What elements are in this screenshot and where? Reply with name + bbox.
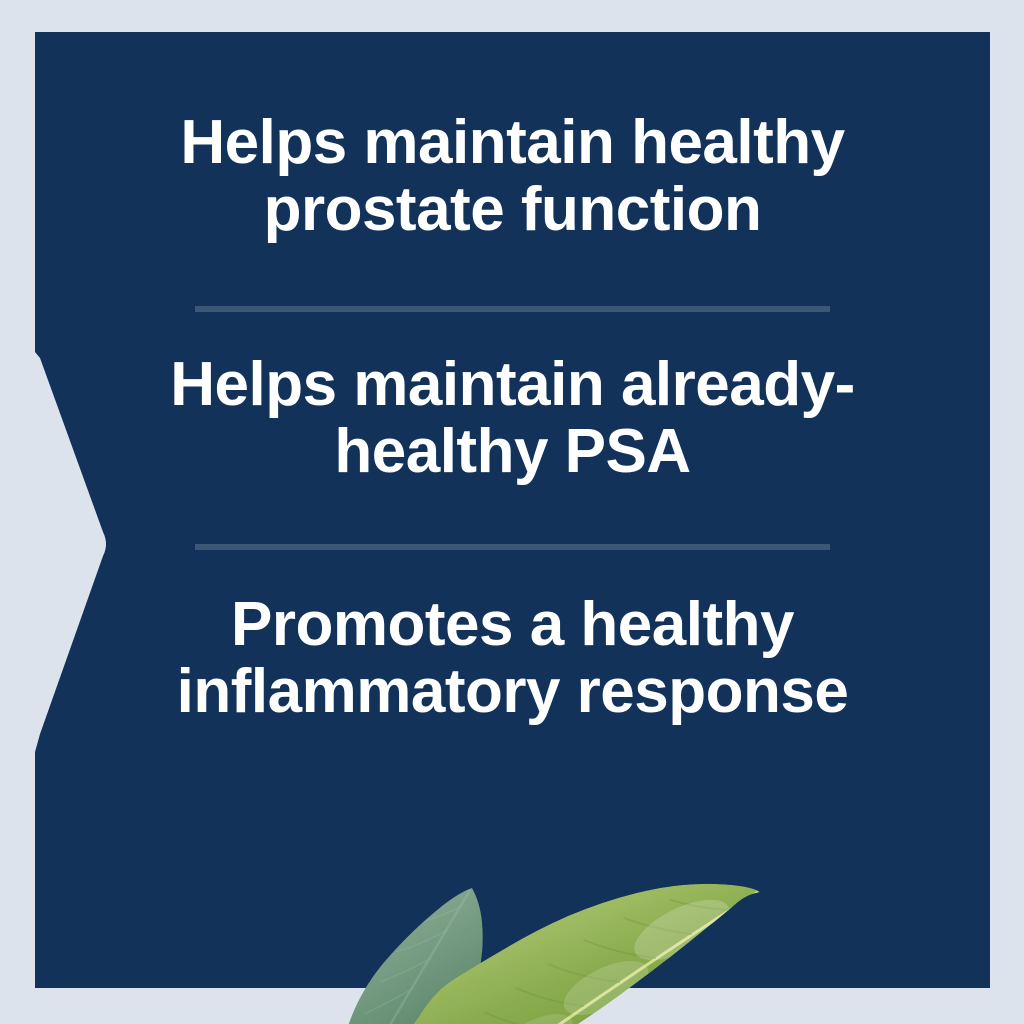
benefit-item-3: Promotes a healthy inflammatory response bbox=[35, 592, 990, 726]
promo-graphic: Helps maintain healthy prostate function… bbox=[0, 0, 1024, 1024]
benefit-item-2: Helps maintain already-healthy PSA bbox=[35, 352, 990, 486]
benefits-list: Helps maintain healthy prostate function… bbox=[35, 32, 990, 892]
benefit-item-1: Helps maintain healthy prostate function bbox=[35, 110, 990, 244]
benefit-divider-2 bbox=[195, 544, 830, 550]
benefit-divider-1 bbox=[195, 306, 830, 312]
benefits-panel: Helps maintain healthy prostate function… bbox=[35, 32, 990, 988]
